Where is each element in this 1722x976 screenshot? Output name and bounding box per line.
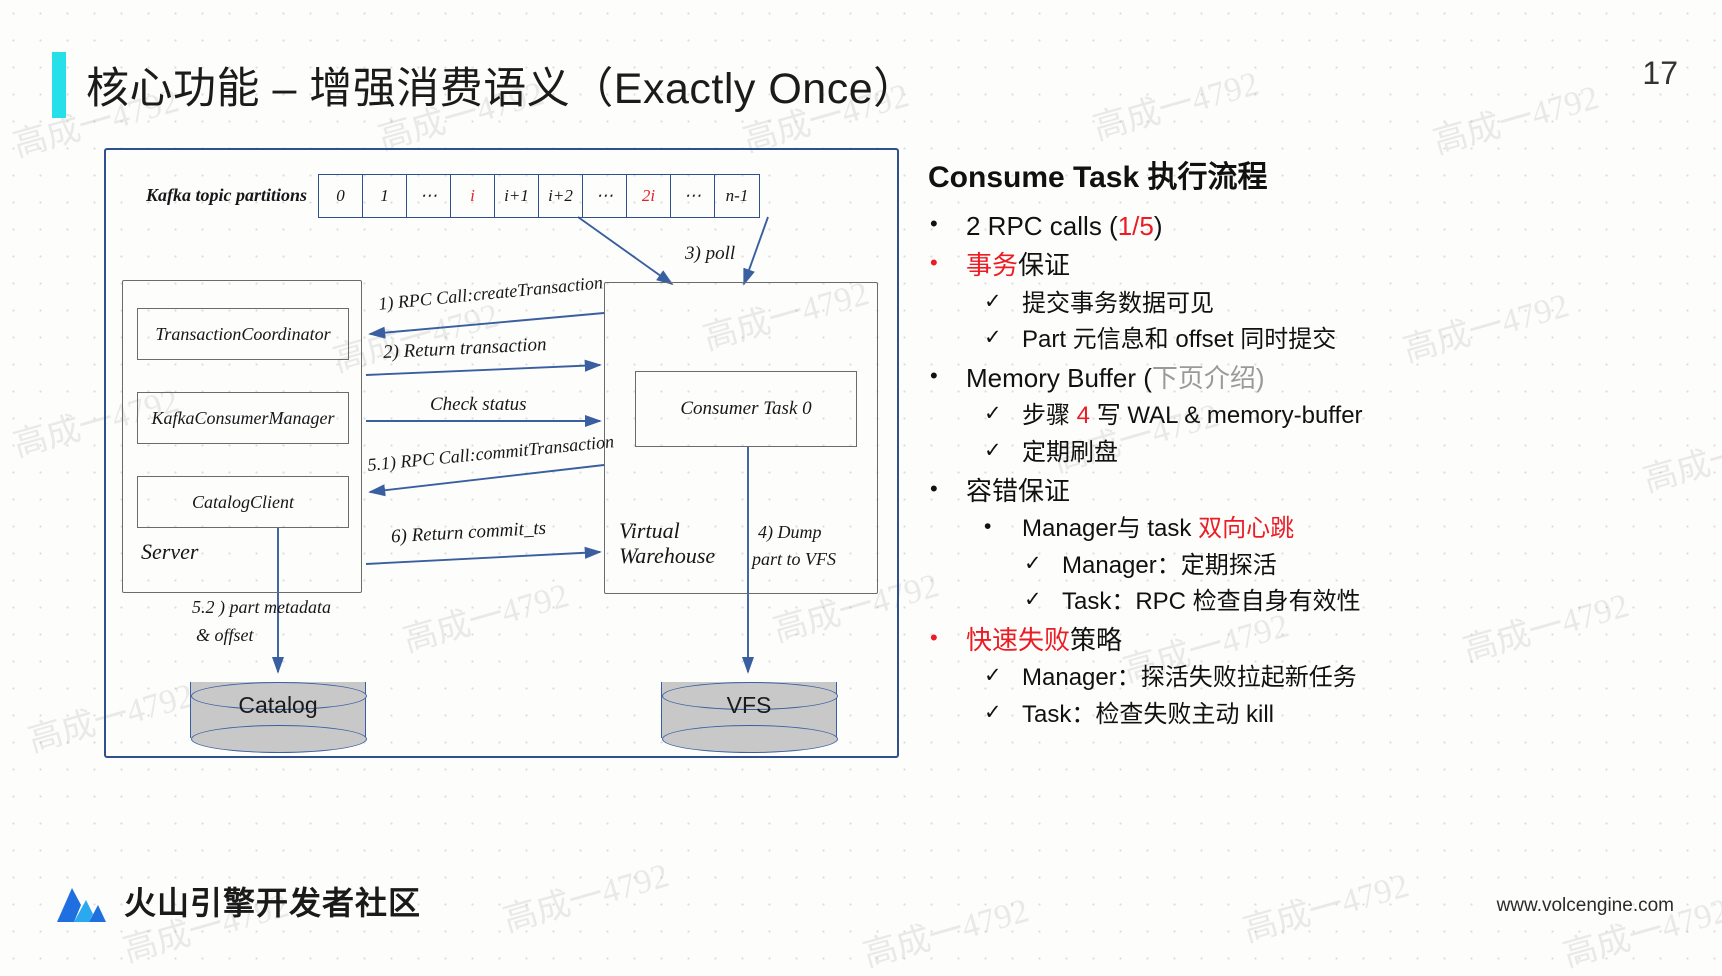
arrow-label-part-metadata-line2: & offset <box>196 625 254 646</box>
check-icon: ✓ <box>984 662 1022 690</box>
component-catalog-client: CatalogClient <box>137 476 349 528</box>
partition-cell: ⋯ <box>583 175 627 217</box>
text-run: Part 元信息和 offset 同时提交 <box>1022 326 1336 353</box>
title-accent-bar <box>52 52 66 118</box>
footer-brand: 火山引擎开发者社区 <box>52 878 421 924</box>
check-icon: ✓ <box>984 437 1022 465</box>
panel-list-item: ✓Manager：探活失败拉起新任务 <box>928 662 1688 694</box>
vfs-datastore: VFS <box>661 668 837 738</box>
panel-list-item-text: 容错保证 <box>966 474 1070 508</box>
page-number: 17 <box>1642 55 1678 92</box>
bullet-icon: • <box>930 248 966 277</box>
partition-cell: i <box>451 175 495 217</box>
panel-list-item: ✓步骤 4 写 WAL & memory-buffer <box>928 400 1688 432</box>
partition-cell: 1 <box>363 175 407 217</box>
panel-list-item: •Memory Buffer (下页介绍) <box>928 361 1688 395</box>
bullet-icon: • <box>930 361 966 390</box>
consumer-task-box: Consumer Task 0 <box>635 371 857 447</box>
panel-heading: Consume Task 执行流程 <box>928 152 1688 196</box>
bullet-icon: • <box>930 474 966 503</box>
text-run: 1/5 <box>1118 211 1154 241</box>
partition-cell: ⋯ <box>407 175 451 217</box>
panel-list-item-text: Part 元信息和 offset 同时提交 <box>1022 324 1336 356</box>
text-run: 快速失败 <box>966 625 1070 655</box>
page-title: 核心功能 – 增强消费语义（Exactly Once） <box>86 54 917 116</box>
virtual-warehouse-box: Consumer Task 0 Virtual Warehouse <box>604 282 878 594</box>
partition-cell: 0 <box>319 175 363 217</box>
check-icon: ✓ <box>984 699 1022 727</box>
panel-list-item-text: Manager与 task 双向心跳 <box>1022 513 1294 545</box>
panel-list-item: •事务保证 <box>928 248 1688 282</box>
kafka-topic-partitions-label: Kafka topic partitions <box>146 185 307 206</box>
partition-cell: ⋯ <box>671 175 715 217</box>
server-box: TransactionCoordinator KafkaConsumerMana… <box>122 280 362 593</box>
text-run: Manager与 task <box>1022 515 1198 542</box>
check-icon: ✓ <box>984 400 1022 428</box>
panel-list-item: •Manager与 task 双向心跳 <box>928 513 1688 545</box>
check-icon: ✓ <box>1024 550 1062 578</box>
panel-list-item: ✓Part 元信息和 offset 同时提交 <box>928 324 1688 356</box>
arrow-label-check-status: Check status <box>430 394 527 416</box>
panel-list-item: ✓Task：RPC 检查自身有效性 <box>928 586 1688 618</box>
footer-brand-text: 火山引擎开发者社区 <box>124 878 421 924</box>
arrow-label-part-metadata-line1: 5.2 ) part metadata <box>192 597 331 618</box>
text-run: 双向心跳 <box>1198 515 1294 542</box>
panel-list-item-text: Manager：定期探活 <box>1062 550 1277 582</box>
virtual-warehouse-label: Virtual Warehouse <box>619 519 729 568</box>
text-run: 策略 <box>1070 625 1122 655</box>
text-run: Manager：定期探活 <box>1062 552 1277 579</box>
partition-cell: i+1 <box>495 175 539 217</box>
partition-cell: n-1 <box>715 175 759 217</box>
text-run: 事务 <box>966 250 1018 280</box>
panel-list-item-text: Task：RPC 检查自身有效性 <box>1062 586 1361 618</box>
panel-list-item-text: 快速失败策略 <box>966 623 1122 657</box>
arrow-label-dump-line1: 4) Dump <box>758 522 822 543</box>
text-run: 写 WAL & memory-buffer <box>1090 402 1363 429</box>
panel-list-item: •快速失败策略 <box>928 623 1688 657</box>
text-run: 步骤 <box>1022 402 1077 429</box>
text-run: 容错保证 <box>966 476 1070 506</box>
panel-list-item: ✓Manager：定期探活 <box>928 550 1688 582</box>
panel-list-item: •容错保证 <box>928 474 1688 508</box>
text-run: Task：RPC 检查自身有效性 <box>1062 588 1361 615</box>
volcengine-logo-icon <box>52 878 110 924</box>
text-run: 保证 <box>1018 250 1070 280</box>
panel-list-item-text: 定期刷盘 <box>1022 437 1118 469</box>
text-run: Task：检查失败主动 kill <box>1022 701 1274 728</box>
bullet-icon: • <box>984 513 1022 541</box>
panel-list-item-text: Manager：探活失败拉起新任务 <box>1022 662 1357 694</box>
check-icon: ✓ <box>984 324 1022 352</box>
panel-list-item: ✓定期刷盘 <box>928 437 1688 469</box>
text-run: ) <box>1154 211 1163 241</box>
panel-bullet-list: •2 RPC calls (1/5)•事务保证✓提交事务数据可见✓Part 元信… <box>928 209 1688 731</box>
arrow-label-dump-line2: part to VFS <box>752 549 836 570</box>
partition-cell: 2i <box>627 175 671 217</box>
panel-list-item-text: 事务保证 <box>966 248 1070 282</box>
check-icon: ✓ <box>984 288 1022 316</box>
panel-list-item-text: Memory Buffer (下页介绍) <box>966 361 1265 395</box>
check-icon: ✓ <box>1024 586 1062 614</box>
bullet-icon: • <box>930 623 966 652</box>
text-run: 定期刷盘 <box>1022 439 1118 466</box>
text-run: Memory Buffer ( <box>966 363 1152 393</box>
bullet-icon: • <box>930 209 966 238</box>
consume-task-flow-panel: Consume Task 执行流程 •2 RPC calls (1/5)•事务保… <box>928 152 1688 736</box>
catalog-datastore: Catalog <box>190 668 366 738</box>
component-kafka-consumer-manager: KafkaConsumerManager <box>137 392 349 444</box>
footer-url: www.volcengine.com <box>1497 895 1674 917</box>
catalog-label: Catalog <box>190 692 366 719</box>
panel-list-item-text: 提交事务数据可见 <box>1022 288 1214 320</box>
text-run: 提交事务数据可见 <box>1022 290 1214 317</box>
text-run: Manager：探活失败拉起新任务 <box>1022 664 1357 691</box>
text-run: ) <box>1256 363 1265 393</box>
text-run: 4 <box>1077 402 1090 429</box>
vfs-label: VFS <box>661 692 837 719</box>
panel-list-item: ✓提交事务数据可见 <box>928 288 1688 320</box>
panel-list-item: ✓Task：检查失败主动 kill <box>928 699 1688 731</box>
panel-list-item-text: 2 RPC calls (1/5) <box>966 209 1163 243</box>
panel-list-item-text: Task：检查失败主动 kill <box>1022 699 1274 731</box>
panel-list-item-text: 步骤 4 写 WAL & memory-buffer <box>1022 400 1363 432</box>
partition-cell: i+2 <box>539 175 583 217</box>
component-transaction-coordinator: TransactionCoordinator <box>137 308 349 360</box>
server-label: Server <box>141 539 198 565</box>
text-run: 下页介绍 <box>1152 363 1256 393</box>
panel-list-item: •2 RPC calls (1/5) <box>928 209 1688 243</box>
arrow-label-poll: 3) poll <box>685 243 735 265</box>
text-run: 2 RPC calls ( <box>966 211 1118 241</box>
kafka-partition-row: 01⋯ii+1i+2⋯2i⋯n-1 <box>318 174 760 218</box>
